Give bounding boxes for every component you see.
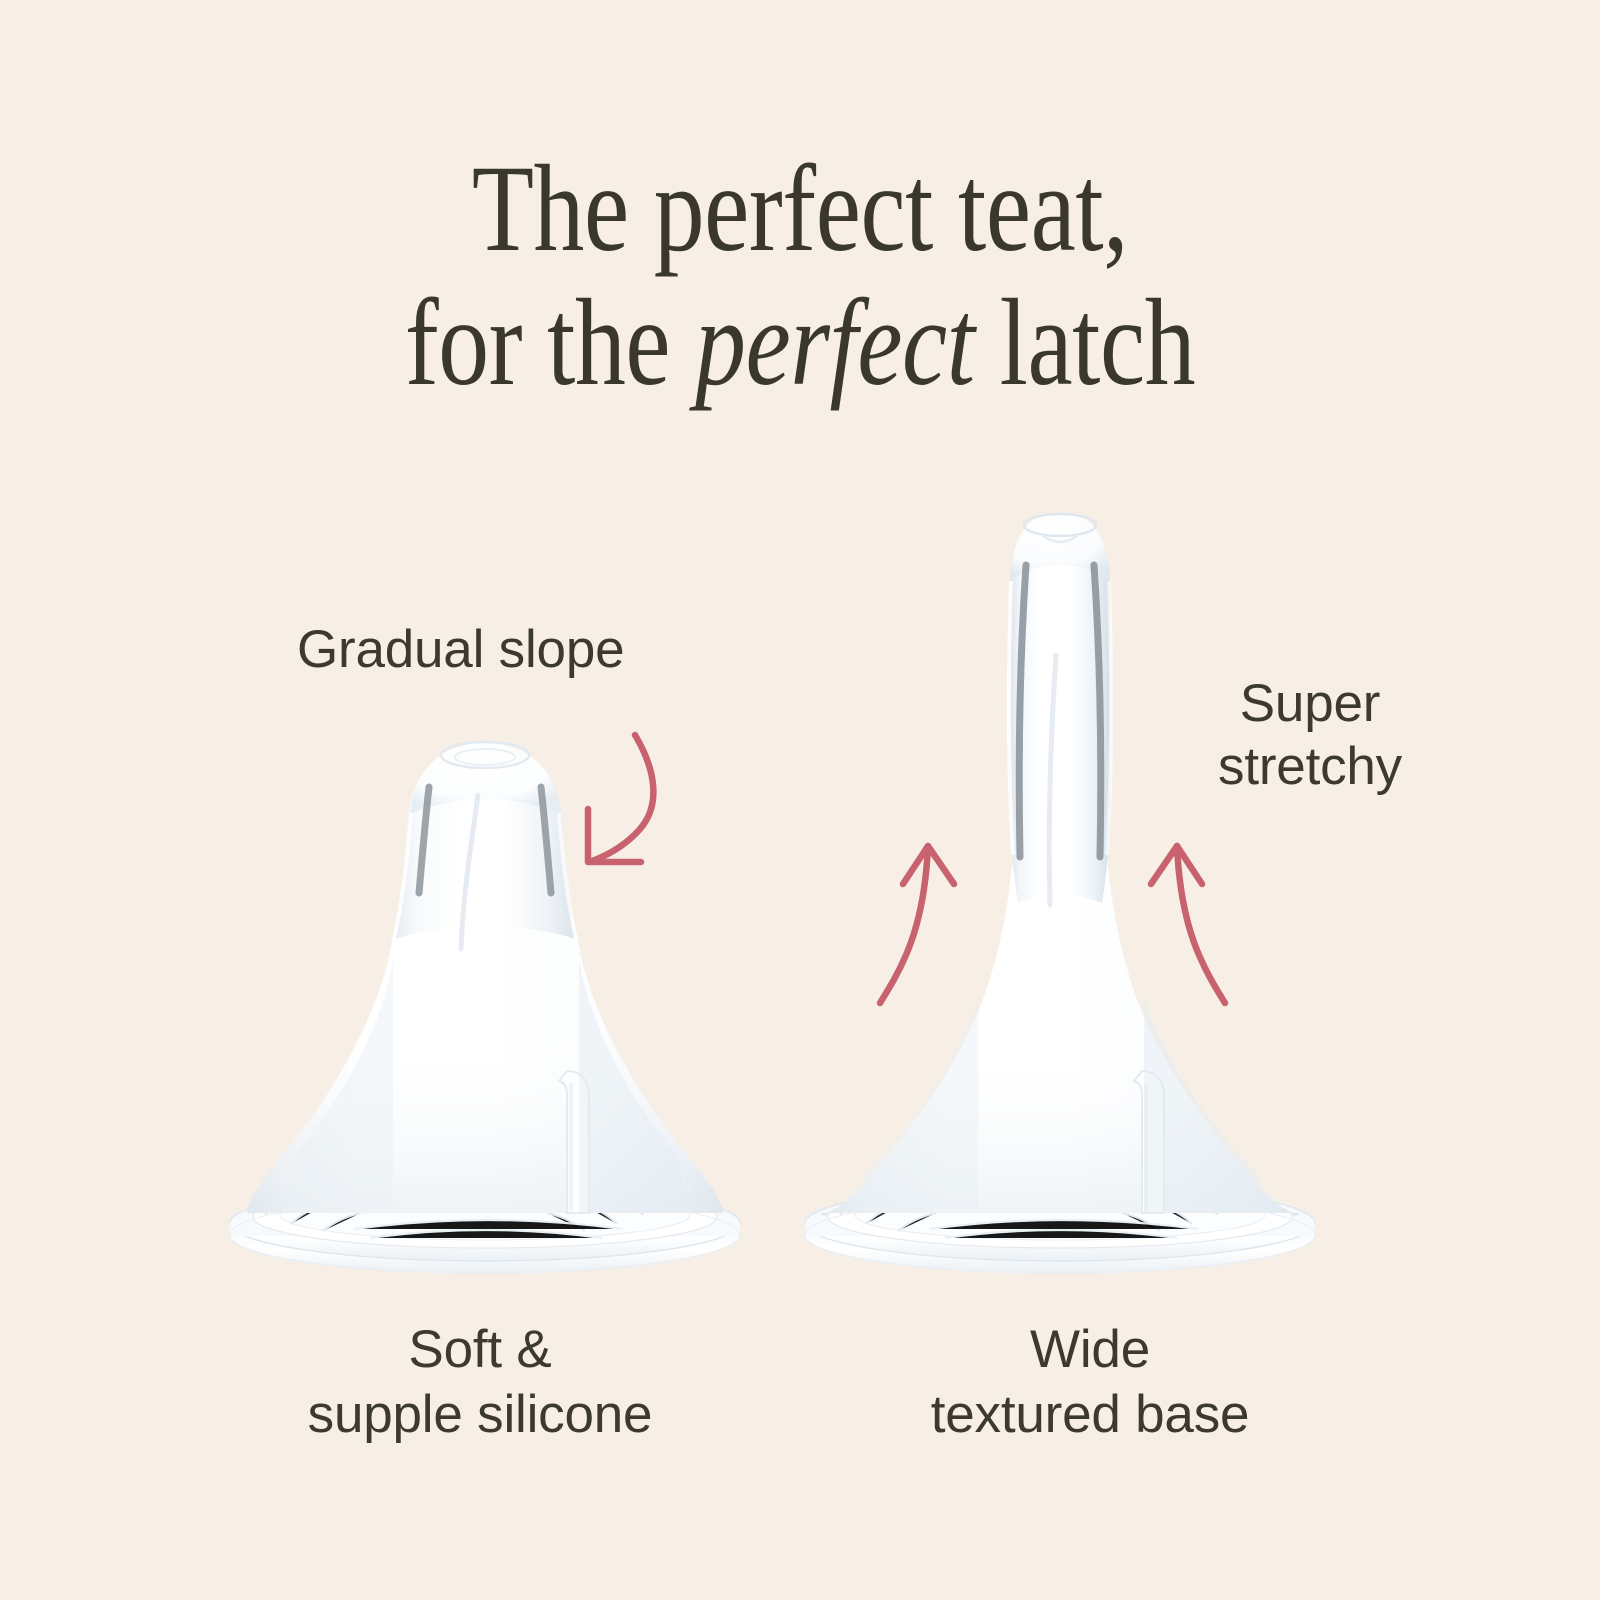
caption-wide-textured-base: Wide textured base [790,1318,1390,1447]
caption-soft-supple-silicone: Soft & supple silicone [180,1318,780,1447]
callout-super-stretchy: Super stretchy [1160,673,1460,798]
callout-gradual-slope: Gradual slope [297,619,624,682]
curved-arrow-down-left-icon [588,735,653,862]
product-feature-poster: The perfect teat, for the perfect latch [0,0,1600,1600]
curved-arrow-up-icon-right [1151,846,1225,1003]
curved-arrow-up-icon-left [880,846,954,1003]
